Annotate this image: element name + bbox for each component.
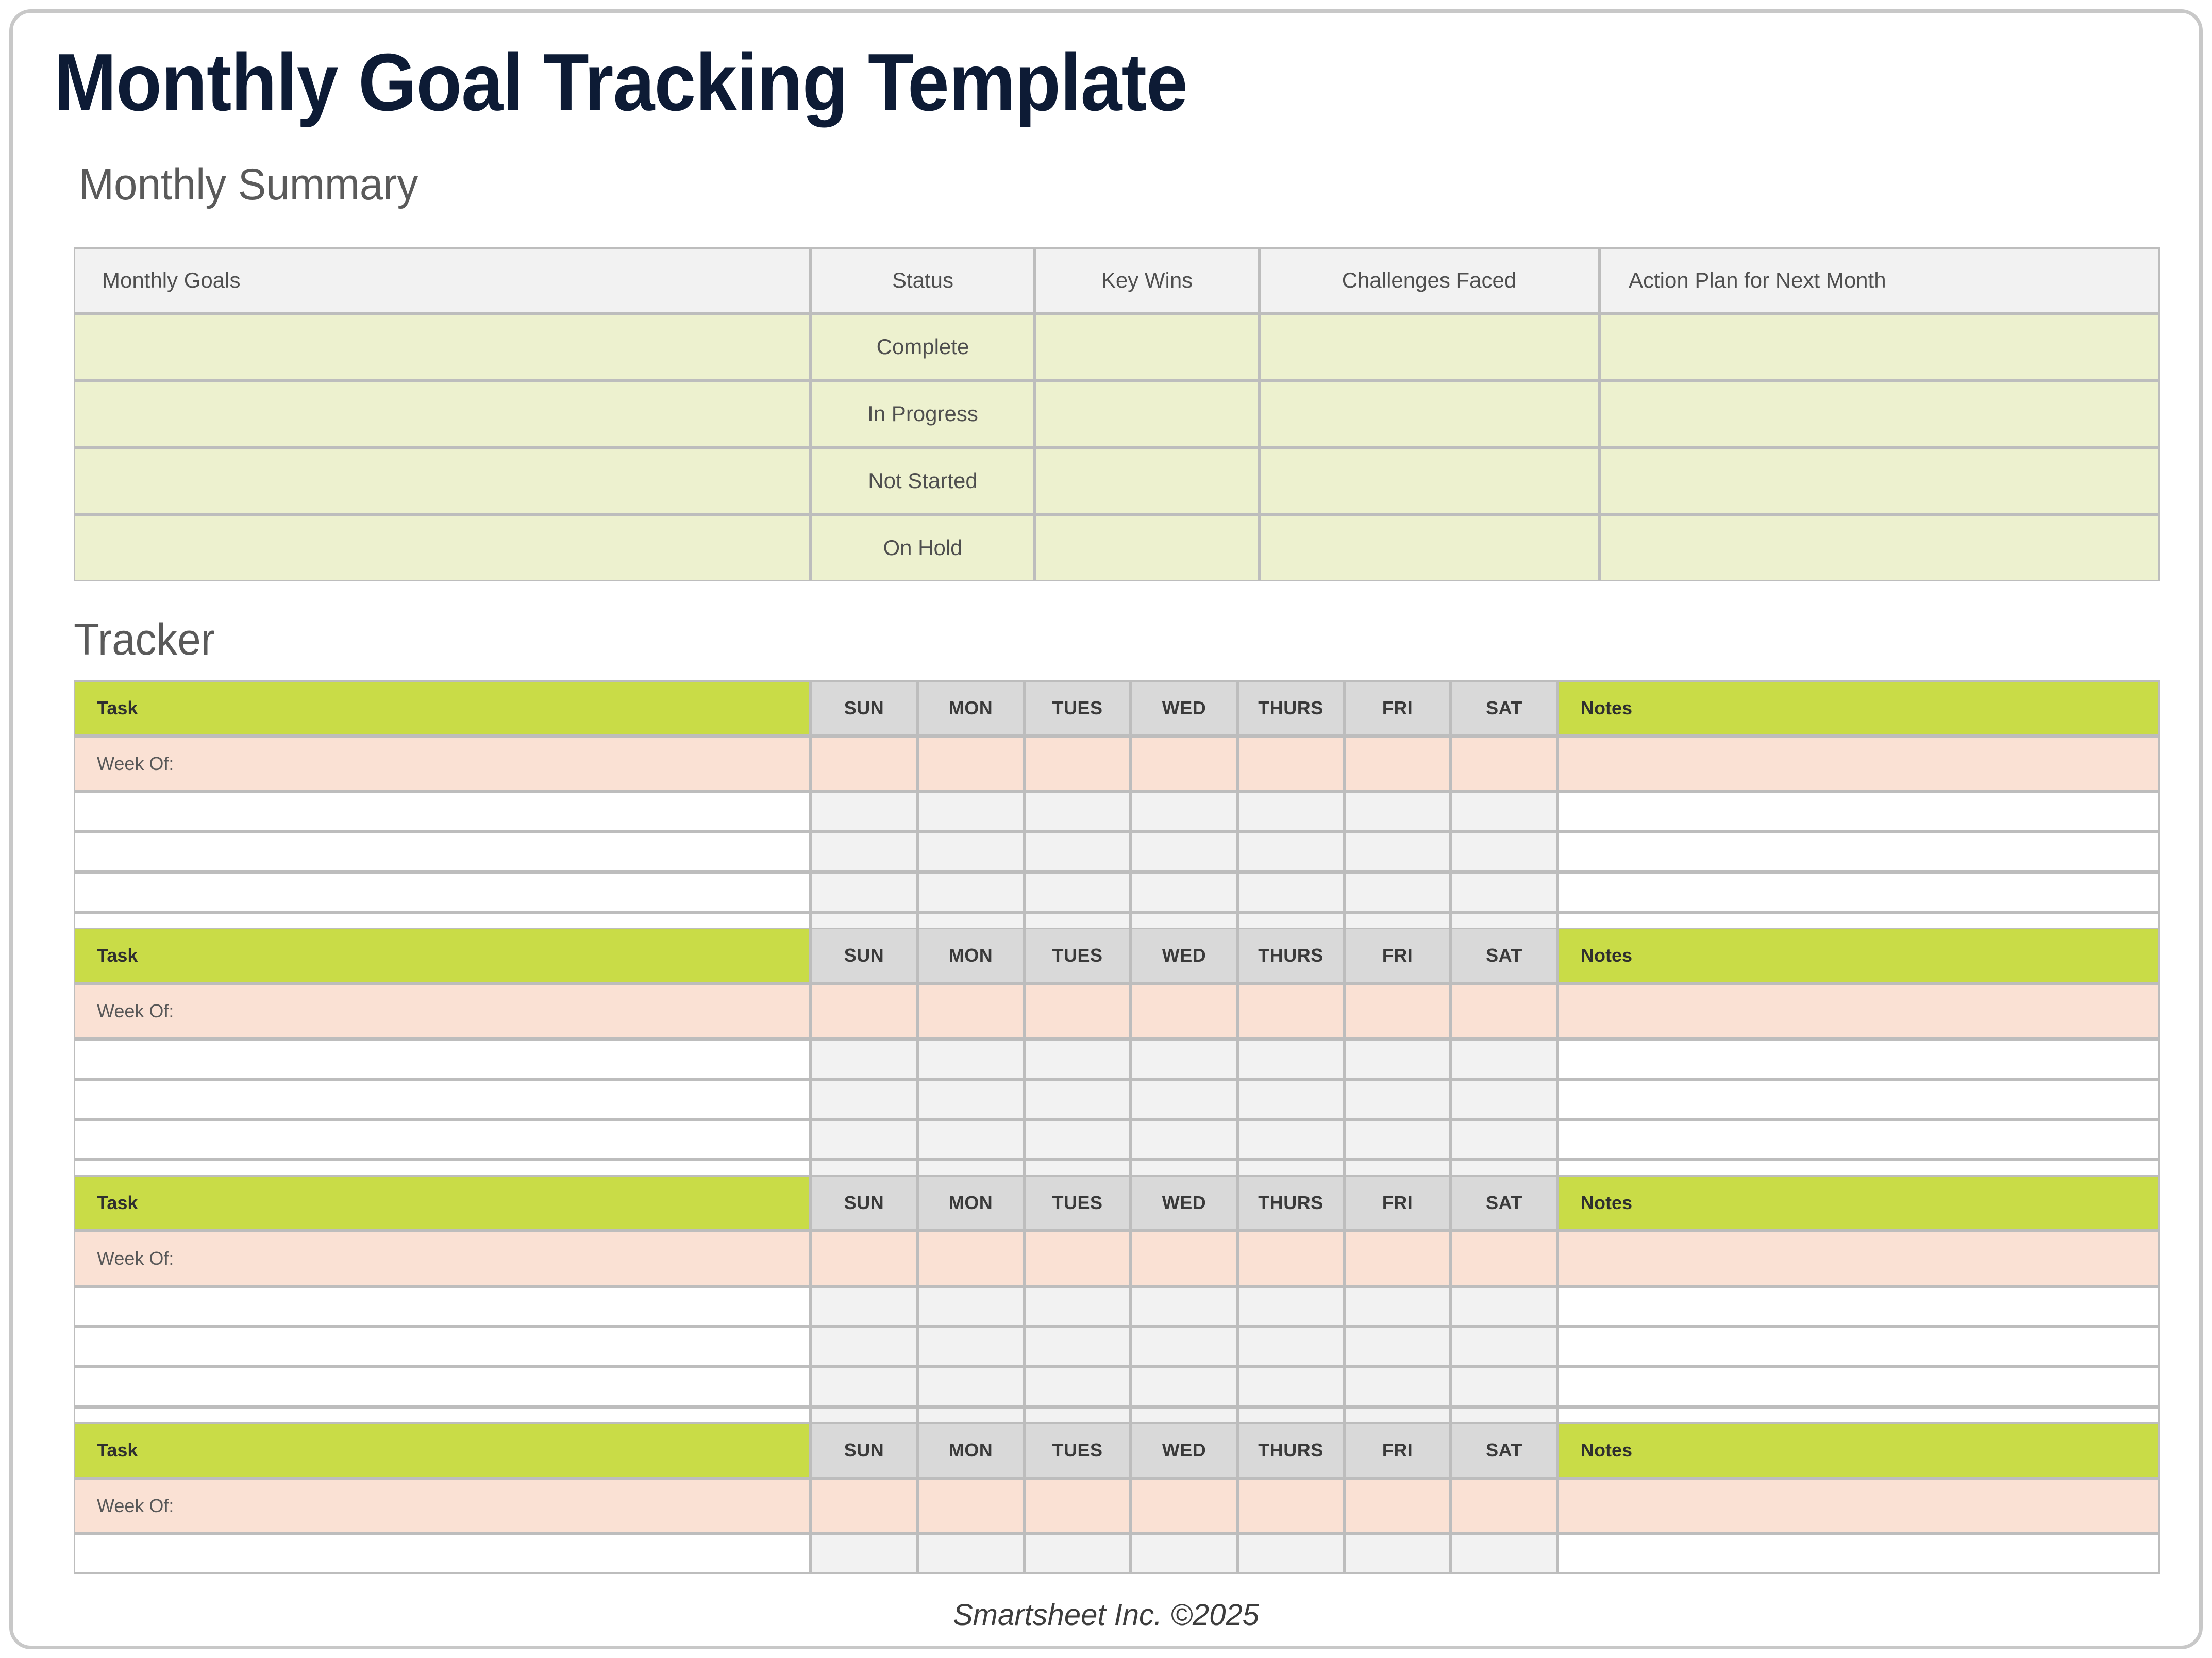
cell-notes[interactable] bbox=[1557, 792, 2160, 832]
cell-day-wed[interactable] bbox=[1131, 1039, 1237, 1079]
week-of-notes[interactable] bbox=[1557, 736, 2160, 792]
week-of-date-sat[interactable] bbox=[1451, 1478, 1557, 1534]
column-header-day-sun: SUN bbox=[811, 1422, 917, 1478]
column-header-day-sun: SUN bbox=[811, 928, 917, 983]
table-header-row: TaskSUNMONTUESWEDTHURSFRISATNotes bbox=[74, 1422, 2160, 1478]
table-header-row: Monthly Goals Status Key Wins Challenges… bbox=[74, 247, 2160, 313]
cell-day-mon[interactable] bbox=[917, 1079, 1024, 1119]
column-header-task: Task bbox=[74, 928, 811, 983]
cell-action-plan[interactable] bbox=[1599, 514, 2160, 581]
cell-monthly-goal[interactable] bbox=[74, 380, 811, 447]
cell-day-thurs[interactable] bbox=[1237, 1327, 1344, 1367]
cell-day-tues[interactable] bbox=[1024, 1119, 1131, 1160]
cell-day-sun[interactable] bbox=[811, 1039, 917, 1079]
table-row: In Progress bbox=[74, 380, 2160, 447]
cell-day-thurs[interactable] bbox=[1237, 872, 1344, 912]
cell-notes[interactable] bbox=[1557, 1079, 2160, 1119]
week-of-date-mon[interactable] bbox=[917, 983, 1024, 1039]
table-header-row: TaskSUNMONTUESWEDTHURSFRISATNotes bbox=[74, 680, 2160, 736]
cell-day-sat[interactable] bbox=[1451, 1367, 1557, 1407]
cell-task[interactable] bbox=[74, 792, 811, 832]
cell-day-sat[interactable] bbox=[1451, 872, 1557, 912]
cell-day-thurs[interactable] bbox=[1237, 1534, 1344, 1574]
cell-status[interactable]: In Progress bbox=[811, 380, 1035, 447]
week-of-date-tues[interactable] bbox=[1024, 983, 1131, 1039]
cell-day-sun[interactable] bbox=[811, 792, 917, 832]
week-of-date-fri[interactable] bbox=[1344, 736, 1451, 792]
tracker-heading: Tracker bbox=[74, 617, 215, 662]
cell-day-sat[interactable] bbox=[1451, 1079, 1557, 1119]
cell-day-mon[interactable] bbox=[917, 792, 1024, 832]
column-header-day-wed: WED bbox=[1131, 1175, 1237, 1231]
week-of-date-thurs[interactable] bbox=[1237, 1478, 1344, 1534]
week-of-date-thurs[interactable] bbox=[1237, 983, 1344, 1039]
column-header-day-thurs: THURS bbox=[1237, 928, 1344, 983]
tracker-table-week-3: TaskSUNMONTUESWEDTHURSFRISATNotesWeek Of… bbox=[74, 1175, 2160, 1447]
week-of-date-tues[interactable] bbox=[1024, 1478, 1131, 1534]
cell-task[interactable] bbox=[74, 1079, 811, 1119]
cell-task[interactable] bbox=[74, 1534, 811, 1574]
week-of-date-fri[interactable] bbox=[1344, 983, 1451, 1039]
cell-notes[interactable] bbox=[1557, 1367, 2160, 1407]
cell-day-sun[interactable] bbox=[811, 872, 917, 912]
cell-day-thurs[interactable] bbox=[1237, 1119, 1344, 1160]
week-of-label[interactable]: Week Of: bbox=[74, 983, 811, 1039]
week-of-date-mon[interactable] bbox=[917, 1478, 1024, 1534]
week-of-date-mon[interactable] bbox=[917, 1231, 1024, 1286]
column-header-day-tues: TUES bbox=[1024, 680, 1131, 736]
column-header-day-sat: SAT bbox=[1451, 1422, 1557, 1478]
cell-day-tues[interactable] bbox=[1024, 832, 1131, 872]
column-header-day-tues: TUES bbox=[1024, 1175, 1131, 1231]
cell-monthly-goal[interactable] bbox=[74, 313, 811, 380]
tracker-body: Week Of: bbox=[74, 983, 2160, 1200]
cell-day-sat[interactable] bbox=[1451, 1534, 1557, 1574]
column-header-notes: Notes bbox=[1557, 928, 2160, 983]
column-header-day-wed: WED bbox=[1131, 1422, 1237, 1478]
column-header-status: Status bbox=[811, 247, 1035, 313]
cell-action-plan[interactable] bbox=[1599, 313, 2160, 380]
column-header-task: Task bbox=[74, 680, 811, 736]
cell-day-fri[interactable] bbox=[1344, 872, 1451, 912]
week-of-row: Week Of: bbox=[74, 983, 2160, 1039]
cell-notes[interactable] bbox=[1557, 832, 2160, 872]
cell-task[interactable] bbox=[74, 872, 811, 912]
cell-task[interactable] bbox=[74, 1286, 811, 1327]
cell-day-sun[interactable] bbox=[811, 1286, 917, 1327]
table-row: Complete bbox=[74, 313, 2160, 380]
cell-day-thurs[interactable] bbox=[1237, 1286, 1344, 1327]
table-row bbox=[74, 792, 2160, 832]
cell-day-mon[interactable] bbox=[917, 1367, 1024, 1407]
column-header-day-wed: WED bbox=[1131, 928, 1237, 983]
column-header-day-sat: SAT bbox=[1451, 928, 1557, 983]
week-of-date-sun[interactable] bbox=[811, 983, 917, 1039]
page-content: Monthly Goal Tracking Template Monthly S… bbox=[13, 13, 2199, 1646]
monthly-summary-header: Monthly Goals Status Key Wins Challenges… bbox=[74, 247, 2160, 313]
column-header-day-wed: WED bbox=[1131, 680, 1237, 736]
cell-status[interactable]: Complete bbox=[811, 313, 1035, 380]
cell-challenges-faced[interactable] bbox=[1259, 313, 1599, 380]
column-header-day-fri: FRI bbox=[1344, 1422, 1451, 1478]
monthly-summary-heading: Monthly Summary bbox=[79, 162, 418, 207]
cell-day-thurs[interactable] bbox=[1237, 792, 1344, 832]
cell-task[interactable] bbox=[74, 1327, 811, 1367]
column-header-day-fri: FRI bbox=[1344, 1175, 1451, 1231]
tracker-header: TaskSUNMONTUESWEDTHURSFRISATNotes bbox=[74, 928, 2160, 983]
week-of-notes[interactable] bbox=[1557, 1231, 2160, 1286]
page-title: Monthly Goal Tracking Template bbox=[54, 39, 1187, 127]
table-row bbox=[74, 832, 2160, 872]
week-of-row: Week Of: bbox=[74, 1231, 2160, 1286]
column-header-action-plan: Action Plan for Next Month bbox=[1599, 247, 2160, 313]
week-of-label[interactable]: Week Of: bbox=[74, 1478, 811, 1534]
cell-day-sun[interactable] bbox=[811, 1119, 917, 1160]
cell-key-wins[interactable] bbox=[1035, 514, 1259, 581]
column-header-day-sat: SAT bbox=[1451, 680, 1557, 736]
cell-day-fri[interactable] bbox=[1344, 1534, 1451, 1574]
week-of-notes[interactable] bbox=[1557, 1478, 2160, 1534]
cell-day-wed[interactable] bbox=[1131, 832, 1237, 872]
column-header-day-fri: FRI bbox=[1344, 680, 1451, 736]
cell-day-thurs[interactable] bbox=[1237, 1079, 1344, 1119]
cell-key-wins[interactable] bbox=[1035, 380, 1259, 447]
week-of-notes[interactable] bbox=[1557, 983, 2160, 1039]
tracker-header: TaskSUNMONTUESWEDTHURSFRISATNotes bbox=[74, 1175, 2160, 1231]
cell-notes[interactable] bbox=[1557, 1534, 2160, 1574]
week-of-date-wed[interactable] bbox=[1131, 1478, 1237, 1534]
week-of-row: Week Of: bbox=[74, 1478, 2160, 1534]
cell-day-tues[interactable] bbox=[1024, 792, 1131, 832]
column-header-day-mon: MON bbox=[917, 928, 1024, 983]
week-of-date-sat[interactable] bbox=[1451, 1231, 1557, 1286]
cell-day-mon[interactable] bbox=[917, 1534, 1024, 1574]
table-row bbox=[74, 1286, 2160, 1327]
week-of-date-sun[interactable] bbox=[811, 736, 917, 792]
column-header-day-thurs: THURS bbox=[1237, 680, 1344, 736]
table-row bbox=[74, 1327, 2160, 1367]
week-of-date-mon[interactable] bbox=[917, 736, 1024, 792]
column-header-day-tues: TUES bbox=[1024, 928, 1131, 983]
cell-task[interactable] bbox=[74, 1119, 811, 1160]
cell-day-fri[interactable] bbox=[1344, 1327, 1451, 1367]
cell-day-fri[interactable] bbox=[1344, 1079, 1451, 1119]
cell-day-fri[interactable] bbox=[1344, 832, 1451, 872]
monthly-summary-body: Complete In Progress Not Started bbox=[74, 313, 2160, 581]
cell-notes[interactable] bbox=[1557, 1119, 2160, 1160]
cell-notes[interactable] bbox=[1557, 872, 2160, 912]
cell-day-tues[interactable] bbox=[1024, 872, 1131, 912]
cell-day-tues[interactable] bbox=[1024, 1327, 1131, 1367]
tracker-header: TaskSUNMONTUESWEDTHURSFRISATNotes bbox=[74, 680, 2160, 736]
cell-day-fri[interactable] bbox=[1344, 1286, 1451, 1327]
cell-monthly-goal[interactable] bbox=[74, 514, 811, 581]
cell-day-mon[interactable] bbox=[917, 1039, 1024, 1079]
table-row bbox=[74, 1119, 2160, 1160]
column-header-day-tues: TUES bbox=[1024, 1422, 1131, 1478]
tracker-body: Week Of: bbox=[74, 736, 2160, 952]
cell-day-tues[interactable] bbox=[1024, 1286, 1131, 1327]
cell-challenges-faced[interactable] bbox=[1259, 380, 1599, 447]
cell-key-wins[interactable] bbox=[1035, 447, 1259, 514]
table-row bbox=[74, 1079, 2160, 1119]
week-of-label[interactable]: Week Of: bbox=[74, 736, 811, 792]
cell-day-wed[interactable] bbox=[1131, 1534, 1237, 1574]
table-row bbox=[74, 872, 2160, 912]
cell-day-sun[interactable] bbox=[811, 1534, 917, 1574]
cell-day-fri[interactable] bbox=[1344, 1367, 1451, 1407]
tracker-header: TaskSUNMONTUESWEDTHURSFRISATNotes bbox=[74, 1422, 2160, 1478]
cell-day-sun[interactable] bbox=[811, 832, 917, 872]
cell-day-wed[interactable] bbox=[1131, 1119, 1237, 1160]
table-row: Not Started bbox=[74, 447, 2160, 514]
cell-day-sat[interactable] bbox=[1451, 832, 1557, 872]
cell-day-sun[interactable] bbox=[811, 1367, 917, 1407]
cell-notes[interactable] bbox=[1557, 1327, 2160, 1367]
column-header-challenges-faced: Challenges Faced bbox=[1259, 247, 1599, 313]
week-of-row: Week Of: bbox=[74, 736, 2160, 792]
cell-day-wed[interactable] bbox=[1131, 1079, 1237, 1119]
column-header-day-thurs: THURS bbox=[1237, 1175, 1344, 1231]
cell-day-tues[interactable] bbox=[1024, 1079, 1131, 1119]
cell-day-tues[interactable] bbox=[1024, 1534, 1131, 1574]
cell-notes[interactable] bbox=[1557, 1039, 2160, 1079]
column-header-notes: Notes bbox=[1557, 1175, 2160, 1231]
cell-day-sun[interactable] bbox=[811, 1327, 917, 1367]
monthly-summary-table: Monthly Goals Status Key Wins Challenges… bbox=[74, 247, 2160, 581]
table-row bbox=[74, 1367, 2160, 1407]
cell-day-sat[interactable] bbox=[1451, 1039, 1557, 1079]
cell-day-mon[interactable] bbox=[917, 832, 1024, 872]
column-header-day-thurs: THURS bbox=[1237, 1422, 1344, 1478]
table-header-row: TaskSUNMONTUESWEDTHURSFRISATNotes bbox=[74, 928, 2160, 983]
column-header-notes: Notes bbox=[1557, 680, 2160, 736]
cell-notes[interactable] bbox=[1557, 1286, 2160, 1327]
week-of-date-tues[interactable] bbox=[1024, 736, 1131, 792]
week-of-date-sat[interactable] bbox=[1451, 983, 1557, 1039]
cell-day-sat[interactable] bbox=[1451, 1327, 1557, 1367]
cell-day-thurs[interactable] bbox=[1237, 832, 1344, 872]
column-header-task: Task bbox=[74, 1175, 811, 1231]
week-of-label[interactable]: Week Of: bbox=[74, 1231, 811, 1286]
table-row bbox=[74, 1534, 2160, 1574]
cell-day-wed[interactable] bbox=[1131, 1327, 1237, 1367]
cell-day-sat[interactable] bbox=[1451, 1286, 1557, 1327]
column-header-day-mon: MON bbox=[917, 1175, 1024, 1231]
column-header-day-mon: MON bbox=[917, 680, 1024, 736]
tracker-body: Week Of: bbox=[74, 1478, 2160, 1574]
cell-day-thurs[interactable] bbox=[1237, 1039, 1344, 1079]
footer-copyright: Smartsheet Inc. ©2025 bbox=[13, 1598, 2199, 1632]
cell-day-sat[interactable] bbox=[1451, 1119, 1557, 1160]
week-of-date-fri[interactable] bbox=[1344, 1478, 1451, 1534]
week-of-date-thurs[interactable] bbox=[1237, 736, 1344, 792]
cell-day-sun[interactable] bbox=[811, 1079, 917, 1119]
tracker-table-week-1: TaskSUNMONTUESWEDTHURSFRISATNotesWeek Of… bbox=[74, 680, 2160, 952]
cell-day-mon[interactable] bbox=[917, 1119, 1024, 1160]
column-header-day-sun: SUN bbox=[811, 680, 917, 736]
cell-challenges-faced[interactable] bbox=[1259, 447, 1599, 514]
week-of-date-tues[interactable] bbox=[1024, 1231, 1131, 1286]
cell-action-plan[interactable] bbox=[1599, 380, 2160, 447]
table-row: On Hold bbox=[74, 514, 2160, 581]
table-row bbox=[74, 1039, 2160, 1079]
cell-status[interactable]: Not Started bbox=[811, 447, 1035, 514]
column-header-notes: Notes bbox=[1557, 1422, 2160, 1478]
column-header-day-fri: FRI bbox=[1344, 928, 1451, 983]
column-header-day-mon: MON bbox=[917, 1422, 1024, 1478]
tracker-table-week-4: TaskSUNMONTUESWEDTHURSFRISATNotesWeek Of… bbox=[74, 1422, 2160, 1574]
cell-day-fri[interactable] bbox=[1344, 1119, 1451, 1160]
cell-day-fri[interactable] bbox=[1344, 1039, 1451, 1079]
cell-task[interactable] bbox=[74, 1039, 811, 1079]
cell-day-mon[interactable] bbox=[917, 872, 1024, 912]
cell-monthly-goal[interactable] bbox=[74, 447, 811, 514]
cell-status[interactable]: On Hold bbox=[811, 514, 1035, 581]
tracker-table-week-2: TaskSUNMONTUESWEDTHURSFRISATNotesWeek Of… bbox=[74, 928, 2160, 1200]
template-page: Monthly Goal Tracking Template Monthly S… bbox=[9, 9, 2203, 1649]
week-of-date-sun[interactable] bbox=[811, 1478, 917, 1534]
cell-day-mon[interactable] bbox=[917, 1286, 1024, 1327]
cell-day-mon[interactable] bbox=[917, 1327, 1024, 1367]
week-of-date-fri[interactable] bbox=[1344, 1231, 1451, 1286]
week-of-date-sat[interactable] bbox=[1451, 736, 1557, 792]
column-header-day-sat: SAT bbox=[1451, 1175, 1557, 1231]
cell-action-plan[interactable] bbox=[1599, 447, 2160, 514]
cell-day-wed[interactable] bbox=[1131, 792, 1237, 832]
cell-challenges-faced[interactable] bbox=[1259, 514, 1599, 581]
cell-day-wed[interactable] bbox=[1131, 1367, 1237, 1407]
column-header-day-sun: SUN bbox=[811, 1175, 917, 1231]
page-bottom-mask bbox=[13, 1577, 2199, 1598]
week-of-date-thurs[interactable] bbox=[1237, 1231, 1344, 1286]
column-header-key-wins: Key Wins bbox=[1035, 247, 1259, 313]
week-of-date-wed[interactable] bbox=[1131, 983, 1237, 1039]
tracker-body: Week Of: bbox=[74, 1231, 2160, 1447]
cell-day-fri[interactable] bbox=[1344, 792, 1451, 832]
cell-day-tues[interactable] bbox=[1024, 1039, 1131, 1079]
cell-day-thurs[interactable] bbox=[1237, 1367, 1344, 1407]
cell-key-wins[interactable] bbox=[1035, 313, 1259, 380]
cell-task[interactable] bbox=[74, 1367, 811, 1407]
week-of-date-wed[interactable] bbox=[1131, 1231, 1237, 1286]
cell-task[interactable] bbox=[74, 832, 811, 872]
cell-day-sat[interactable] bbox=[1451, 792, 1557, 832]
week-of-date-wed[interactable] bbox=[1131, 736, 1237, 792]
cell-day-wed[interactable] bbox=[1131, 1286, 1237, 1327]
cell-day-wed[interactable] bbox=[1131, 872, 1237, 912]
column-header-monthly-goals: Monthly Goals bbox=[74, 247, 811, 313]
cell-day-tues[interactable] bbox=[1024, 1367, 1131, 1407]
column-header-task: Task bbox=[74, 1422, 811, 1478]
week-of-date-sun[interactable] bbox=[811, 1231, 917, 1286]
table-header-row: TaskSUNMONTUESWEDTHURSFRISATNotes bbox=[74, 1175, 2160, 1231]
